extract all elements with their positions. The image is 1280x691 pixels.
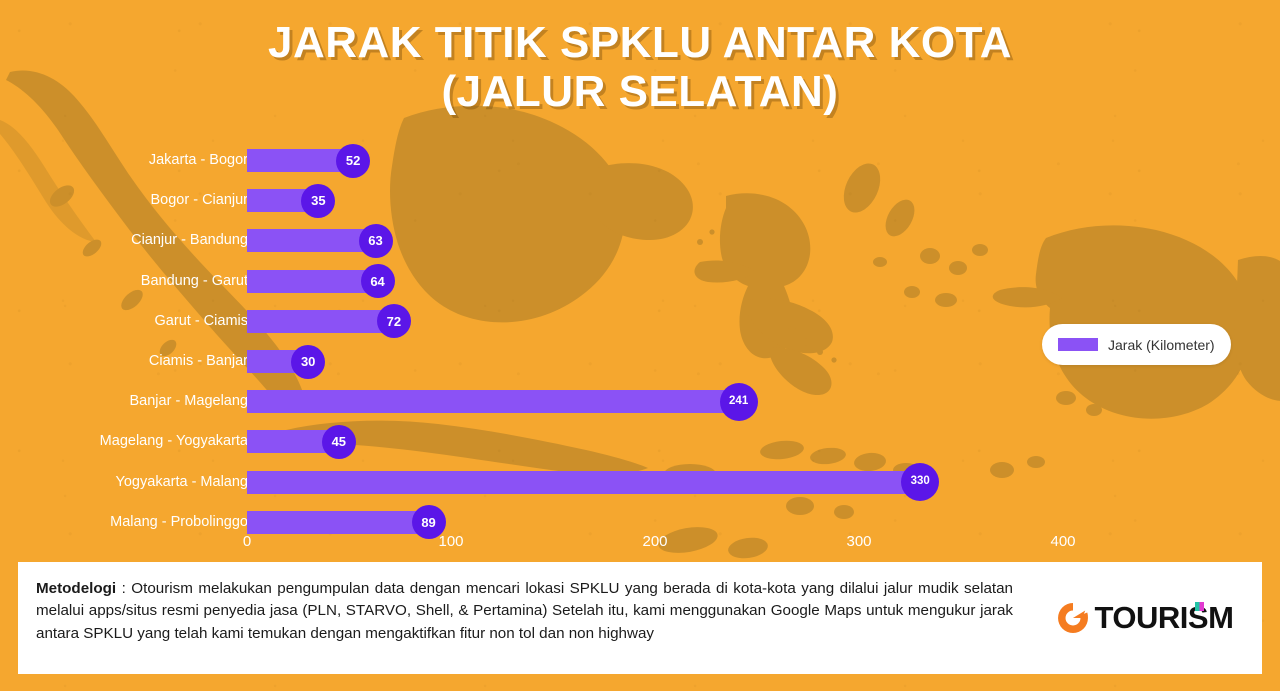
bar-container: 45 <box>247 430 339 453</box>
logo-i-dot-icon <box>1195 602 1204 611</box>
x-axis-tick-label: 300 <box>846 533 871 550</box>
chart-row: Magelang - Yogyakarta45 <box>0 421 1100 461</box>
x-axis-tick-label: 200 <box>642 533 667 550</box>
bar-value-badge: 241 <box>720 383 758 421</box>
chart-row: Bandung - Garut64 <box>0 261 1100 301</box>
bar-value-badge: 30 <box>291 345 325 379</box>
bar[interactable] <box>247 511 429 534</box>
bar-chart: Jakarta - Bogor52Bogor - Cianjur35Cianju… <box>0 132 1100 557</box>
bar-container: 330 <box>247 471 920 494</box>
chart-row: Garut - Ciamis72 <box>0 301 1100 341</box>
category-label: Bogor - Cianjur <box>28 180 248 220</box>
bar-value-badge: 52 <box>336 144 370 178</box>
category-label: Cianjur - Bandung <box>28 220 248 260</box>
bar-value-badge: 45 <box>322 425 356 459</box>
category-label: Banjar - Magelang <box>28 381 248 421</box>
bar-container: 72 <box>247 310 394 333</box>
methodology-text: Metodelogi : Otourism melakukan pengumpu… <box>18 562 1027 655</box>
category-label: Garut - Ciamis <box>28 301 248 341</box>
page-title: JARAK TITIK SPKLU ANTAR KOTA (JALUR SELA… <box>0 18 1280 117</box>
footer-panel: Metodelogi : Otourism melakukan pengumpu… <box>18 562 1262 674</box>
title-line-2: (JALUR SELATAN) <box>0 67 1280 116</box>
bar[interactable] <box>247 229 376 252</box>
legend-swatch-icon <box>1058 338 1098 351</box>
otourism-wordmark: TOURISM <box>1095 600 1234 636</box>
bar[interactable] <box>247 390 739 413</box>
bar-container: 241 <box>247 390 739 413</box>
category-label: Yogyakarta - Malang <box>28 462 248 502</box>
title-line-1: JARAK TITIK SPKLU ANTAR KOTA <box>0 18 1280 67</box>
methodology-label: Metodelogi <box>36 580 116 597</box>
chart-row: Jakarta - Bogor52 <box>0 140 1100 180</box>
bar-container: 52 <box>247 149 353 172</box>
chart-legend[interactable]: Jarak (Kilometer) <box>1042 324 1231 365</box>
methodology-body: Otourism melakukan pengumpulan data deng… <box>36 580 1013 642</box>
chart-row: Bogor - Cianjur35 <box>0 180 1100 220</box>
bar-value-badge: 35 <box>301 184 335 218</box>
chart-row: Cianjur - Bandung63 <box>0 220 1100 260</box>
x-axis-tick-label: 0 <box>243 533 251 550</box>
bar-container: 30 <box>247 350 308 373</box>
otourism-logo: TOURISM <box>1027 562 1262 674</box>
bar-value-badge: 64 <box>361 264 395 298</box>
otourism-wordmark-text: TOURISM <box>1095 600 1234 635</box>
bar-container: 63 <box>247 229 376 252</box>
x-axis-tick-label: 100 <box>438 533 463 550</box>
chart-row: Yogyakarta - Malang330 <box>0 462 1100 502</box>
bar-container: 64 <box>247 270 378 293</box>
bar[interactable] <box>247 471 920 494</box>
x-axis: 0100200300400 <box>0 533 1100 557</box>
legend-label: Jarak (Kilometer) <box>1108 337 1215 353</box>
category-label: Magelang - Yogyakarta <box>28 421 248 461</box>
chart-row: Ciamis - Banjar30 <box>0 341 1100 381</box>
otourism-o-mark-icon <box>1056 601 1090 635</box>
bar-value-badge: 72 <box>377 304 411 338</box>
category-label: Ciamis - Banjar <box>28 341 248 381</box>
methodology-separator: : <box>116 580 131 597</box>
bar-value-badge: 63 <box>359 224 393 258</box>
bar-container: 89 <box>247 511 429 534</box>
chart-row: Banjar - Magelang241 <box>0 381 1100 421</box>
x-axis-tick-label: 400 <box>1050 533 1075 550</box>
bar-value-badge: 330 <box>901 463 939 501</box>
category-label: Jakarta - Bogor <box>28 140 248 180</box>
bar[interactable] <box>247 310 394 333</box>
bar-container: 35 <box>247 189 318 212</box>
bar[interactable] <box>247 270 378 293</box>
category-label: Bandung - Garut <box>28 261 248 301</box>
